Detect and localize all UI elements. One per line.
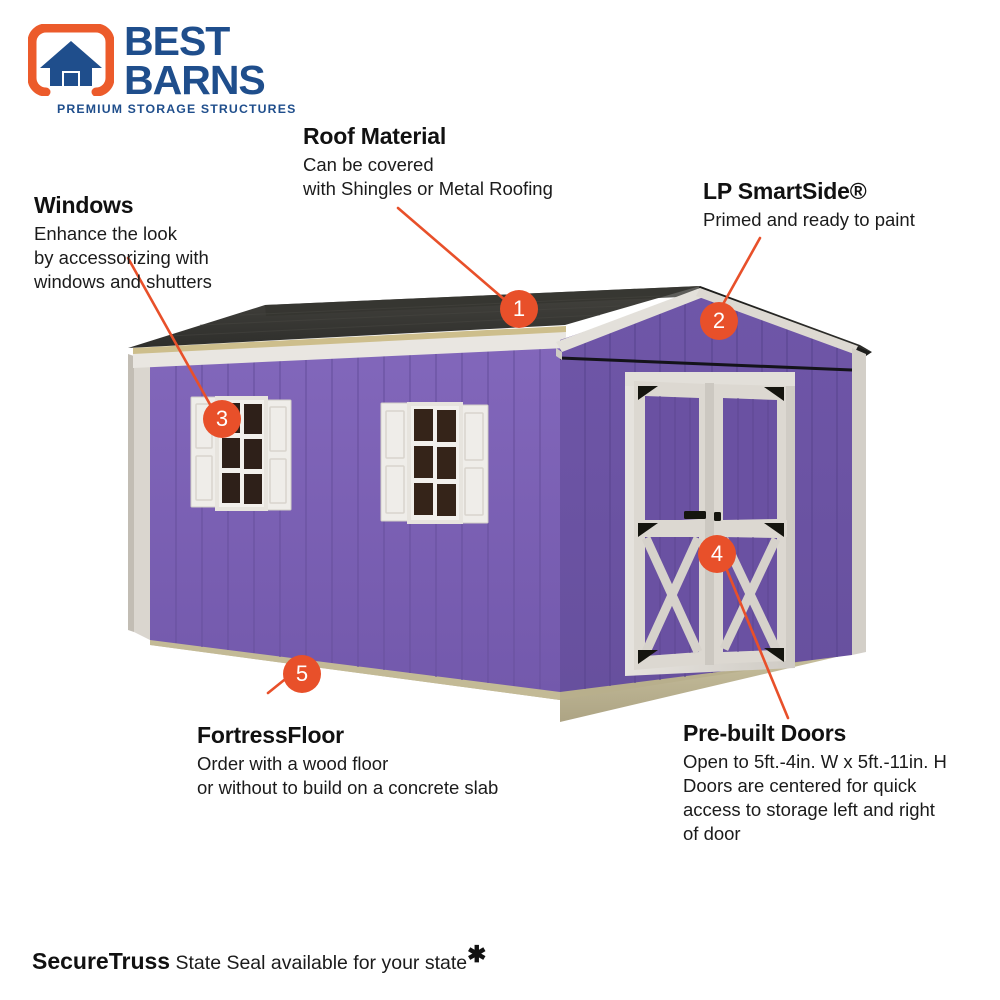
door-left-panel xyxy=(634,381,707,670)
door-handle-icon xyxy=(684,511,706,519)
shed-double-doors xyxy=(625,372,795,676)
callout-badge-3[interactable]: 3 xyxy=(203,400,241,438)
callout-badge-1[interactable]: 1 xyxy=(500,290,538,328)
shed-window-right xyxy=(381,403,488,523)
callout-windows-line-1: Enhance the look xyxy=(34,222,212,246)
callout-badge-2[interactable]: 2 xyxy=(700,302,738,340)
callout-floor-body: Order with a wood floor or without to bu… xyxy=(197,752,498,800)
callout-windows-title: Windows xyxy=(34,192,212,219)
callout-lp-title: LP SmartSide® xyxy=(703,178,915,205)
callout-floor-title: FortressFloor xyxy=(197,722,498,749)
door-latch-icon xyxy=(714,512,721,521)
callout-roof-body: Can be covered with Shingles or Metal Ro… xyxy=(303,153,553,201)
callout-lp-line-1: Primed and ready to paint xyxy=(703,208,915,232)
callout-roof-title: Roof Material xyxy=(303,123,553,150)
callout-doors-title: Pre-built Doors xyxy=(683,720,947,747)
callout-floor-line-1: Order with a wood floor xyxy=(197,752,498,776)
callout-doors-line-2: Doors are centered for quick xyxy=(683,774,947,798)
leader-line-1 xyxy=(398,208,505,300)
callout-windows: Windows Enhance the look by accessorizin… xyxy=(34,192,212,294)
callout-badge-5[interactable]: 5 xyxy=(283,655,321,693)
callout-doors-line-1: Open to 5ft.-4in. W x 5ft.-11in. H xyxy=(683,750,947,774)
leader-line-2 xyxy=(722,238,760,306)
shed-side-wall xyxy=(128,340,560,692)
callout-doors-line-3: access to storage left and right xyxy=(683,798,947,822)
callout-fortressfloor: FortressFloor Order with a wood floor or… xyxy=(197,722,498,800)
callout-roof-line-1: Can be covered xyxy=(303,153,553,177)
footer-strong-text: SecureTruss xyxy=(32,948,170,974)
callout-roof-line-2: with Shingles or Metal Roofing xyxy=(303,177,553,201)
callout-windows-body: Enhance the look by accessorizing with w… xyxy=(34,222,212,294)
callout-doors-body: Open to 5ft.-4in. W x 5ft.-11in. H Doors… xyxy=(683,750,947,846)
callout-windows-line-2: by accessorizing with xyxy=(34,246,212,270)
footer-rest-text: State Seal available for your state xyxy=(170,952,467,974)
callout-badge-4[interactable]: 4 xyxy=(698,535,736,573)
callout-windows-line-3: windows and shutters xyxy=(34,270,212,294)
callout-doors-line-4: of door xyxy=(683,822,947,846)
callout-lp-body: Primed and ready to paint xyxy=(703,208,915,232)
callout-floor-line-2: or without to build on a concrete slab xyxy=(197,776,498,800)
callout-prebuilt-doors: Pre-built Doors Open to 5ft.-4in. W x 5f… xyxy=(683,720,947,846)
callout-lp-smartside: LP SmartSide® Primed and ready to paint xyxy=(703,178,915,232)
callout-roof-material: Roof Material Can be covered with Shingl… xyxy=(303,123,553,201)
footer-securetruss-note: SecureTruss State Seal available for you… xyxy=(32,941,486,975)
diagram-canvas: BEST BARNS PREMIUM STORAGE STRUCTURES xyxy=(0,0,1000,1000)
asterisk-icon: ✱ xyxy=(467,941,486,967)
